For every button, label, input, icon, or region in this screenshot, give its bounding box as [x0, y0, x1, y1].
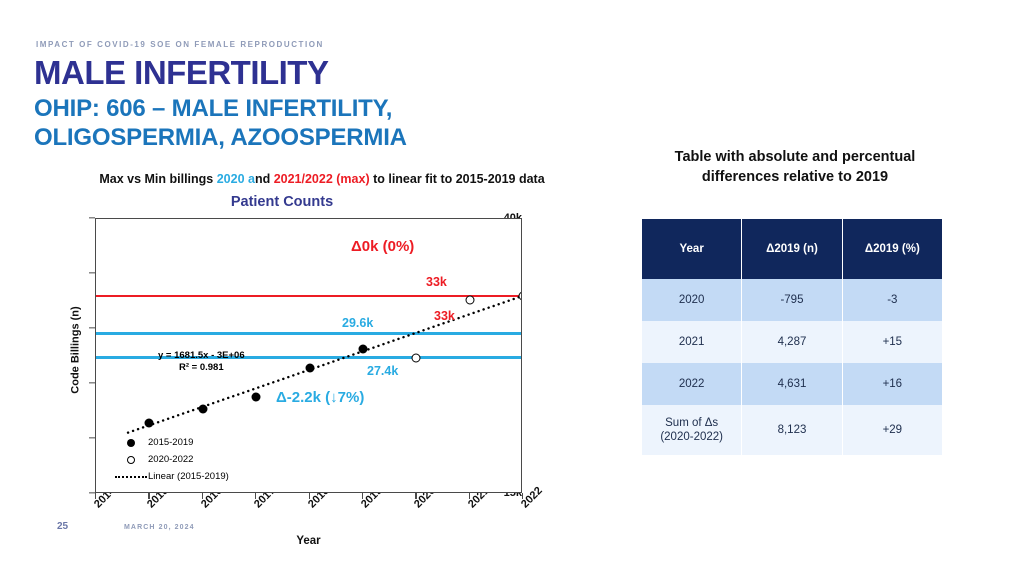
fit-equation-text: y = 1681.5x - 3E+06	[158, 350, 245, 362]
table-cell-year: 2021	[642, 321, 742, 363]
table-cell-abs: 8,123	[742, 405, 842, 455]
table-cell-year: 2022	[642, 363, 742, 405]
caption-part1: Max vs Min billings	[99, 172, 216, 186]
chart-x-axis-label: Year	[95, 535, 522, 547]
legend-item-linear-fit: Linear (2015-2019)	[114, 468, 229, 485]
data-point	[145, 418, 154, 427]
table-cell-abs: -795	[742, 279, 842, 321]
chart-caption: Max vs Min billings 2020 and 2021/2022 (…	[42, 172, 602, 186]
table-row: Sum of Δs(2020-2022)8,123+29	[642, 405, 942, 455]
caption-red: 2021/2022 (max)	[274, 172, 370, 186]
differences-table: Year Δ2019 (n) Δ2019 (%) 2020-795-320214…	[642, 219, 942, 455]
annotation-fit-equation: y = 1681.5x - 3E+06 R² = 0.981	[158, 350, 245, 374]
filled-circle-icon	[114, 439, 148, 447]
data-point	[465, 296, 474, 305]
caption-part3: to linear fit to 2015-2019 data	[370, 172, 545, 186]
table-header-pct: Δ2019 (%)	[843, 219, 942, 279]
chart-y-axis-label: Code Billings (n)	[70, 306, 82, 393]
table-body: 2020-795-320214,287+1520224,631+16Sum of…	[642, 279, 942, 455]
page-subtitle: OHIP: 606 – MALE INFERTILITY, OLIGOSPERM…	[34, 94, 407, 153]
data-point	[412, 353, 421, 362]
x-axis-tick-label: 2022	[519, 485, 545, 511]
data-point	[198, 405, 207, 414]
table-title: Table with absolute and percentual diffe…	[630, 148, 960, 187]
table-head: Year Δ2019 (n) Δ2019 (%)	[642, 219, 942, 279]
table-cell-pct: -3	[843, 279, 942, 321]
caption-blue: 2020 a	[217, 172, 255, 186]
legend-item-2020-2022: 2020-2022	[114, 451, 229, 468]
page-subtitle-line1: OHIP: 606 – MALE INFERTILITY,	[34, 94, 407, 123]
data-point	[358, 344, 367, 353]
slide: IMPACT OF COVID-19 SOE ON FEMALE REPRODU…	[0, 0, 1024, 576]
page-number: 25	[57, 521, 68, 532]
table-header-row: Year Δ2019 (n) Δ2019 (%)	[642, 219, 942, 279]
annotation-value-29-6k: 29.6k	[342, 316, 373, 330]
chart-legend: 2015-2019 2020-2022 Linear (2015-2019)	[114, 434, 229, 485]
chart-title: Patient Counts	[42, 194, 522, 210]
table-cell-year-line1: Sum of Δs	[643, 416, 740, 430]
table-cell-year: 2020	[642, 279, 742, 321]
table-cell-abs: 4,287	[742, 321, 842, 363]
annotation-value-33k-top: 33k	[426, 275, 447, 289]
table-cell-year: Sum of Δs(2020-2022)	[642, 405, 742, 455]
data-point	[305, 363, 314, 372]
annotation-value-27-4k: 27.4k	[367, 364, 398, 378]
fit-r2-text: R² = 0.981	[158, 362, 245, 374]
table-cell-pct: +15	[843, 321, 942, 363]
table-cell-pct: +29	[843, 405, 942, 455]
table-row: 2020-795-3	[642, 279, 942, 321]
annotation-value-33k-bottom: 33k	[434, 309, 455, 323]
patient-counts-chart: Patient Counts Code Billings (n) 15k20k2…	[42, 194, 522, 514]
table-cell-abs: 4,631	[742, 363, 842, 405]
footer-date: MARCH 20, 2024	[124, 524, 195, 531]
caption-part2: nd	[255, 172, 274, 186]
page-title: MALE INFERTILITY	[34, 56, 328, 91]
table-title-line1: Table with absolute and percentual	[630, 148, 960, 168]
table-row: 20224,631+16	[642, 363, 942, 405]
dotted-line-icon	[114, 476, 148, 478]
annotation-delta-blue: Δ-2.2k (↓7%)	[276, 389, 364, 406]
annotation-delta-red: Δ0k (0%)	[351, 238, 414, 255]
legend-label: 2020-2022	[148, 454, 193, 465]
data-point	[252, 393, 261, 402]
table-header-abs: Δ2019 (n)	[742, 219, 842, 279]
table-header-year: Year	[642, 219, 742, 279]
data-point	[519, 292, 522, 301]
hollow-circle-icon	[114, 456, 148, 464]
table-row: 20214,287+15	[642, 321, 942, 363]
table-cell-pct: +16	[843, 363, 942, 405]
legend-label: 2015-2019	[148, 437, 193, 448]
table-title-line2: differences relative to 2019	[630, 168, 960, 188]
legend-item-2015-2019: 2015-2019	[114, 434, 229, 451]
table-cell-year-line2: (2020-2022)	[643, 430, 740, 444]
legend-label: Linear (2015-2019)	[148, 471, 229, 482]
page-subtitle-line2: OLIGOSPERMIA, AZOOSPERMIA	[34, 123, 407, 152]
eyebrow-text: IMPACT OF COVID-19 SOE ON FEMALE REPRODU…	[36, 40, 324, 49]
chart-plot-area: Δ0k (0%) 33k 33k 29.6k 27.4k Δ-2.2k (↓7%…	[95, 218, 522, 493]
